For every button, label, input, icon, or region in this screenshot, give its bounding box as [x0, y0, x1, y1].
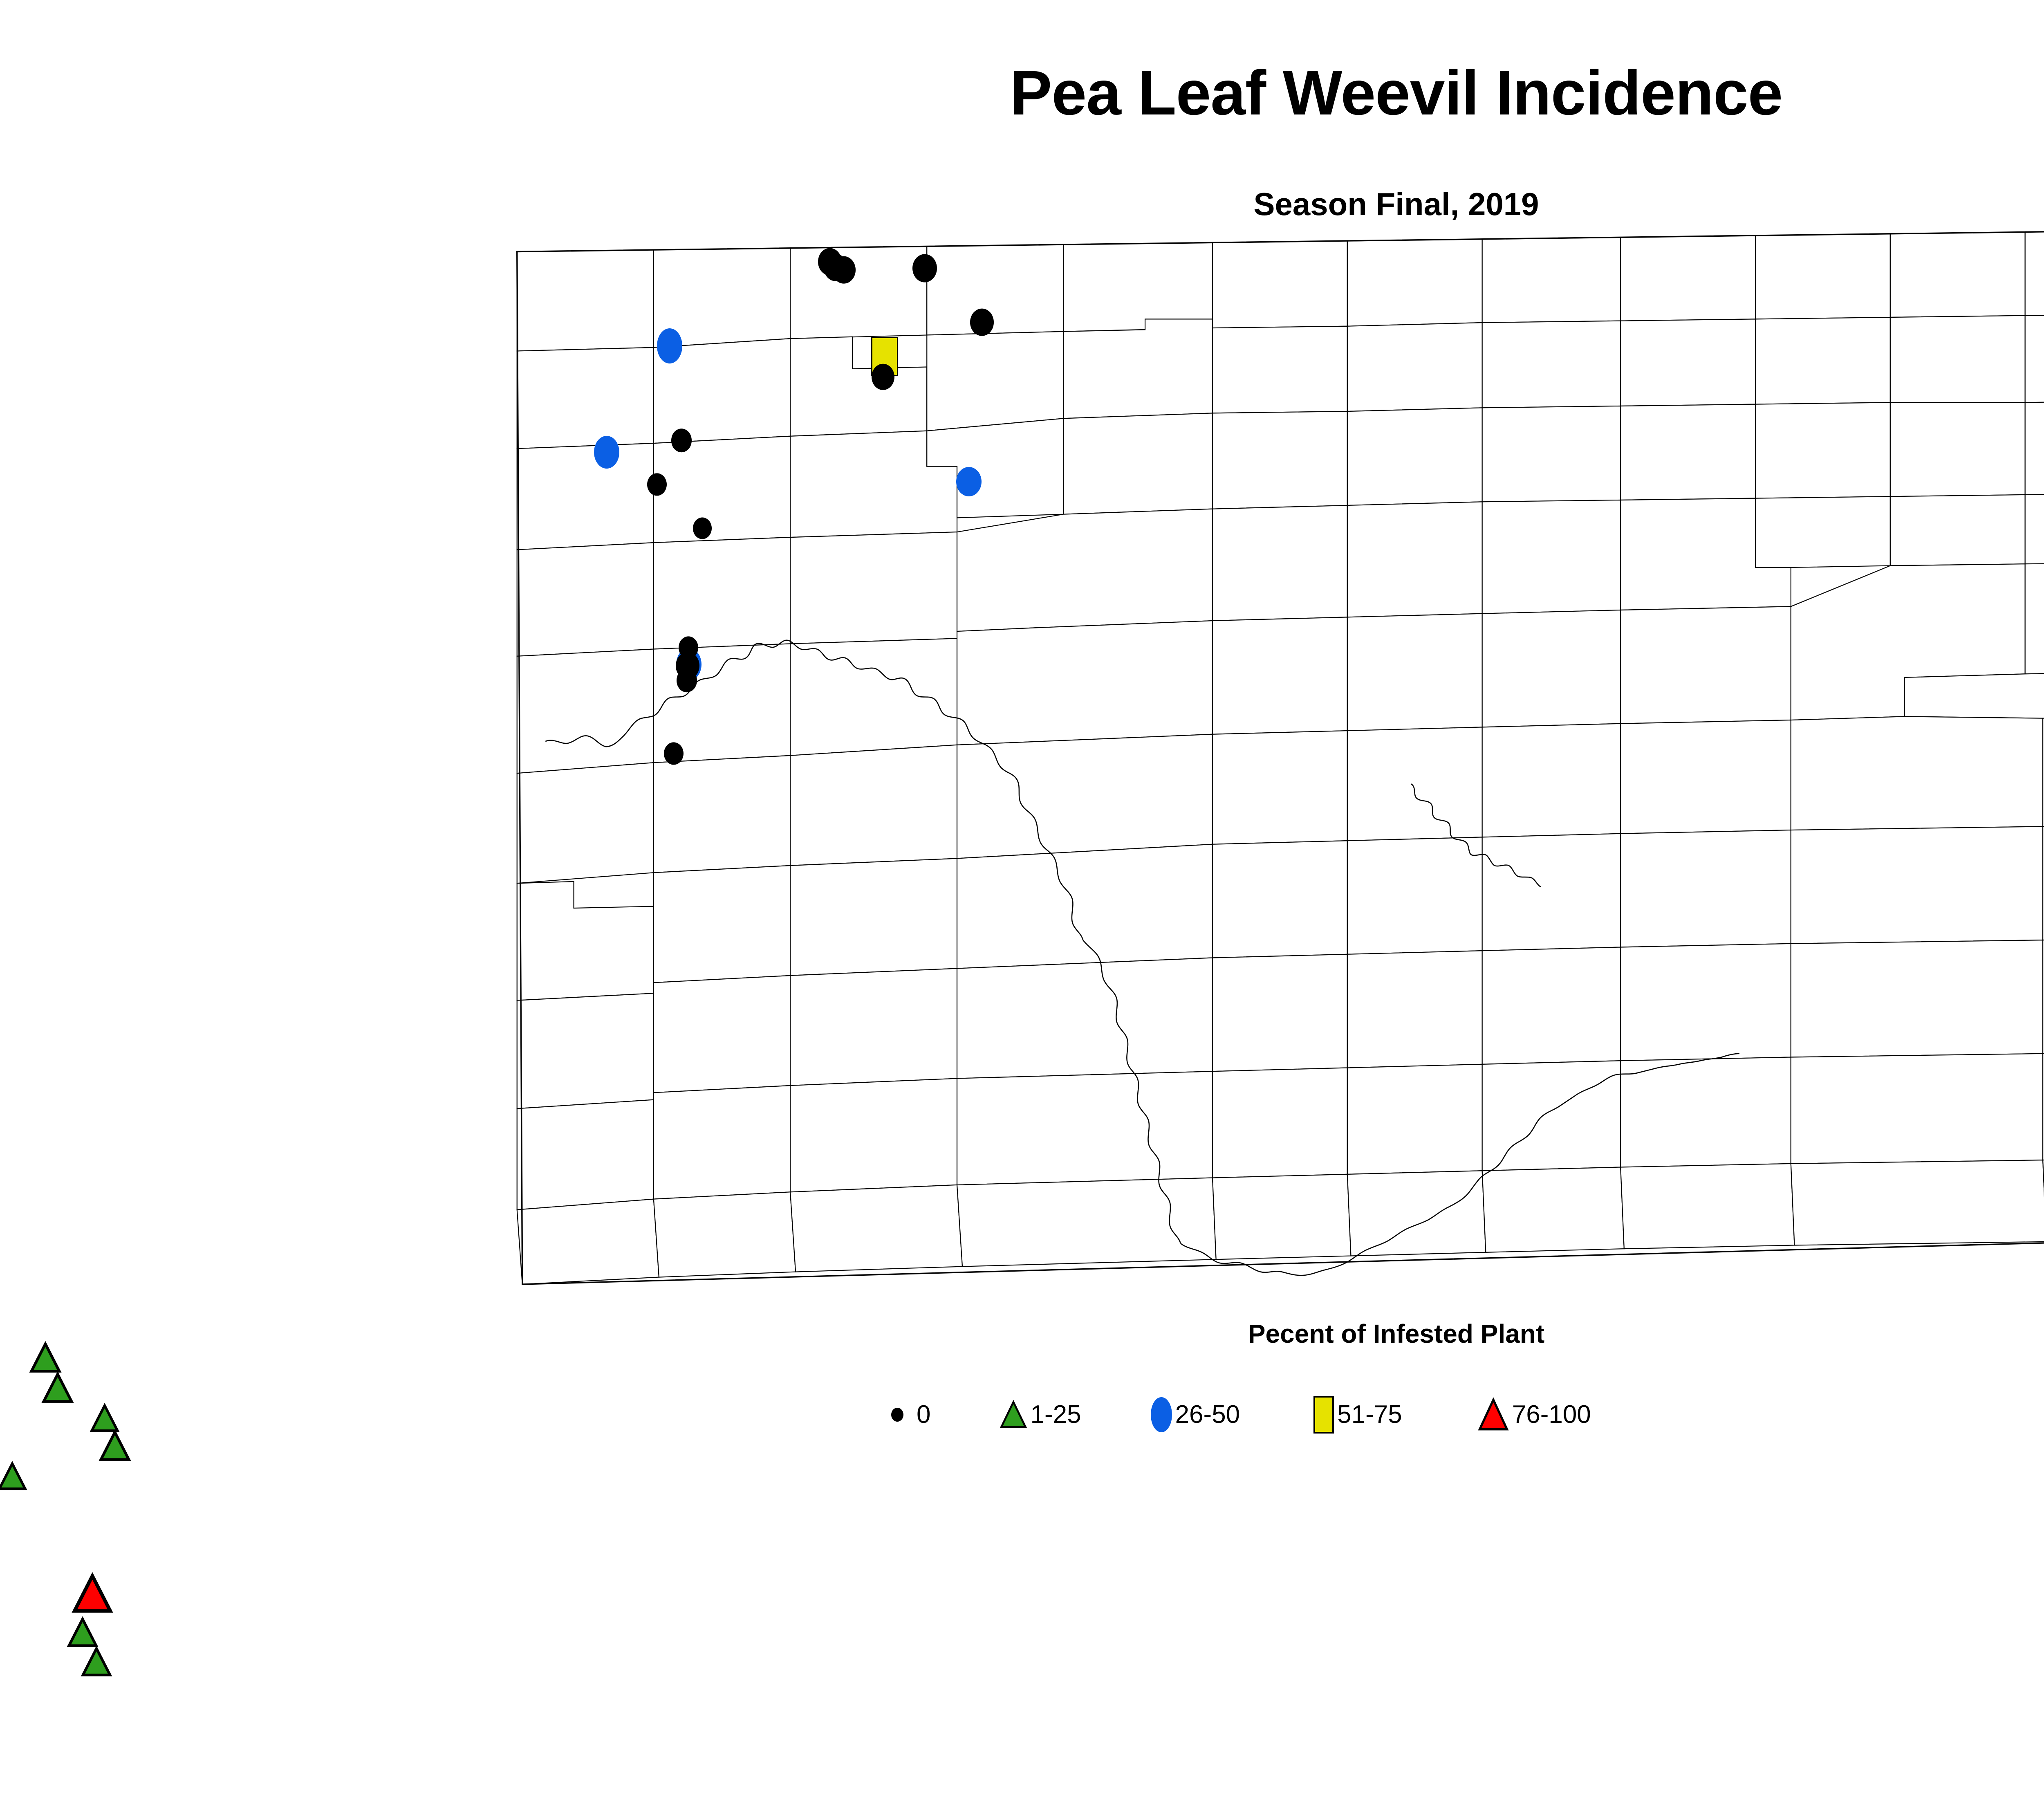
legend-item-51-75[interactable]: 51-75	[1313, 1396, 1402, 1434]
map-marker-zero	[647, 473, 667, 496]
map-marker-zero	[824, 254, 847, 281]
map-marker-1-25	[67, 1618, 1841, 1647]
map-marker-zero	[912, 254, 937, 283]
map-marker-zero	[671, 429, 692, 452]
legend-item-76-100[interactable]: 76-100	[1478, 1393, 1591, 1436]
legend-item-1-25[interactable]: 1-25	[1000, 1397, 1081, 1432]
circle-icon	[1151, 1397, 1172, 1432]
map-marker-1-25	[0, 1521, 1498, 1549]
map-marker-76-100	[72, 1575, 1846, 1613]
legend-item-label: 76-100	[1512, 1402, 1591, 1427]
county-layer	[517, 230, 2044, 1284]
map-marker-76-100	[0, 1711, 1573, 1749]
map-marker-zero	[693, 518, 712, 539]
triangle-icon	[1000, 1397, 1027, 1432]
map-marker-26-50	[594, 436, 619, 469]
map-marker-zero	[664, 742, 684, 765]
map-marker-76-100	[0, 1673, 1574, 1711]
map-marker-zero	[677, 669, 697, 692]
dot-icon	[891, 1408, 903, 1422]
map-marker-zero	[872, 364, 894, 390]
legend-item-label: 0	[917, 1402, 930, 1427]
map-marker-1-25	[0, 1463, 1772, 1490]
map-marker-1-25	[0, 1286, 1737, 1315]
marker-layer	[503, 1300, 2044, 1806]
legend-item-26-50[interactable]: 26-50	[1151, 1397, 1240, 1432]
map-marker-76-100	[0, 1749, 1572, 1787]
page-title: Pea Leaf Weevil Incidence	[0, 61, 2044, 124]
map-marker-1-25	[0, 1490, 1508, 1520]
map-marker-zero	[970, 309, 994, 336]
map-marker-26-50	[657, 328, 682, 363]
legend-item-label: 1-25	[1030, 1402, 1081, 1427]
square-icon	[1313, 1396, 1334, 1434]
map-page: Pea Leaf Weevil Incidence Season Final, …	[0, 0, 2044, 1500]
map-svg	[503, 213, 2044, 1300]
legend-item-label: 51-75	[1337, 1402, 1402, 1427]
map-marker-26-50	[956, 467, 982, 496]
triangle-icon	[1478, 1393, 1509, 1436]
legend-item-label: 26-50	[1175, 1402, 1240, 1427]
north-dakota-county-map	[503, 213, 2044, 1300]
legend-item-0[interactable]: 0	[891, 1402, 930, 1427]
legend: 01-2526-5051-7576-100	[891, 1386, 1905, 1443]
legend-title: Pecent of Infested Plant	[0, 1321, 2044, 1347]
